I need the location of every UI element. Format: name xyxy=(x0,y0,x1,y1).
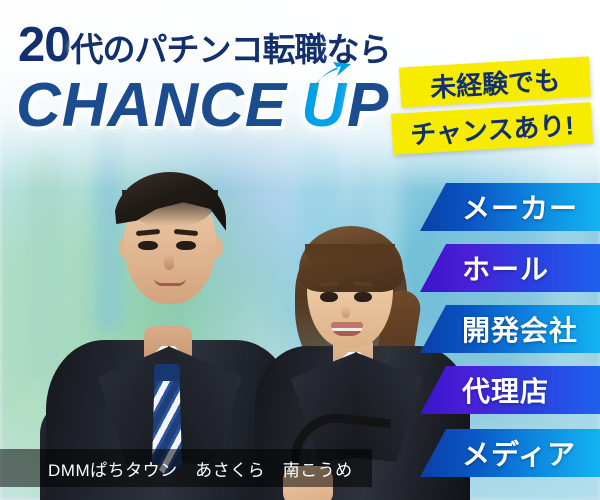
headline-number: 20 xyxy=(18,18,71,72)
up-letter-p: P xyxy=(347,71,389,140)
woman-smile xyxy=(331,322,363,336)
category-button-agency[interactable]: 代理店 xyxy=(420,366,600,414)
woman-eye-left xyxy=(320,292,338,302)
headline-tail: なら xyxy=(327,31,391,68)
category-button-development-company[interactable]: 開発会社 xyxy=(420,305,600,353)
headline-line-2: CHANCEUP xyxy=(16,70,389,141)
woman-nose xyxy=(342,306,350,318)
category-button-hall[interactable]: ホール xyxy=(420,244,600,292)
man-nose xyxy=(164,254,174,270)
woman-eye-right xyxy=(354,292,372,302)
man-eye-left xyxy=(138,241,158,250)
up-word-group: UP xyxy=(301,70,389,141)
headline-middle: 代のパチンコ転職 xyxy=(71,31,327,68)
ad-banner: 20代のパチンコ転職なら CHANCEUP 未経験でも チャンスあり! メーカー… xyxy=(0,0,600,500)
man-eye-right xyxy=(176,241,196,250)
headline-line-1: 20代のパチンコ転職なら xyxy=(18,17,391,73)
category-button-maker[interactable]: メーカー xyxy=(420,183,600,231)
man-mouth xyxy=(154,278,186,286)
category-button-media[interactable]: メディア xyxy=(420,429,600,477)
up-letter-u: U xyxy=(301,71,347,140)
caption-credits: DMMぱちタウン あさくら 南こうめ xyxy=(0,449,372,487)
chance-word: CHANCE xyxy=(16,71,287,140)
